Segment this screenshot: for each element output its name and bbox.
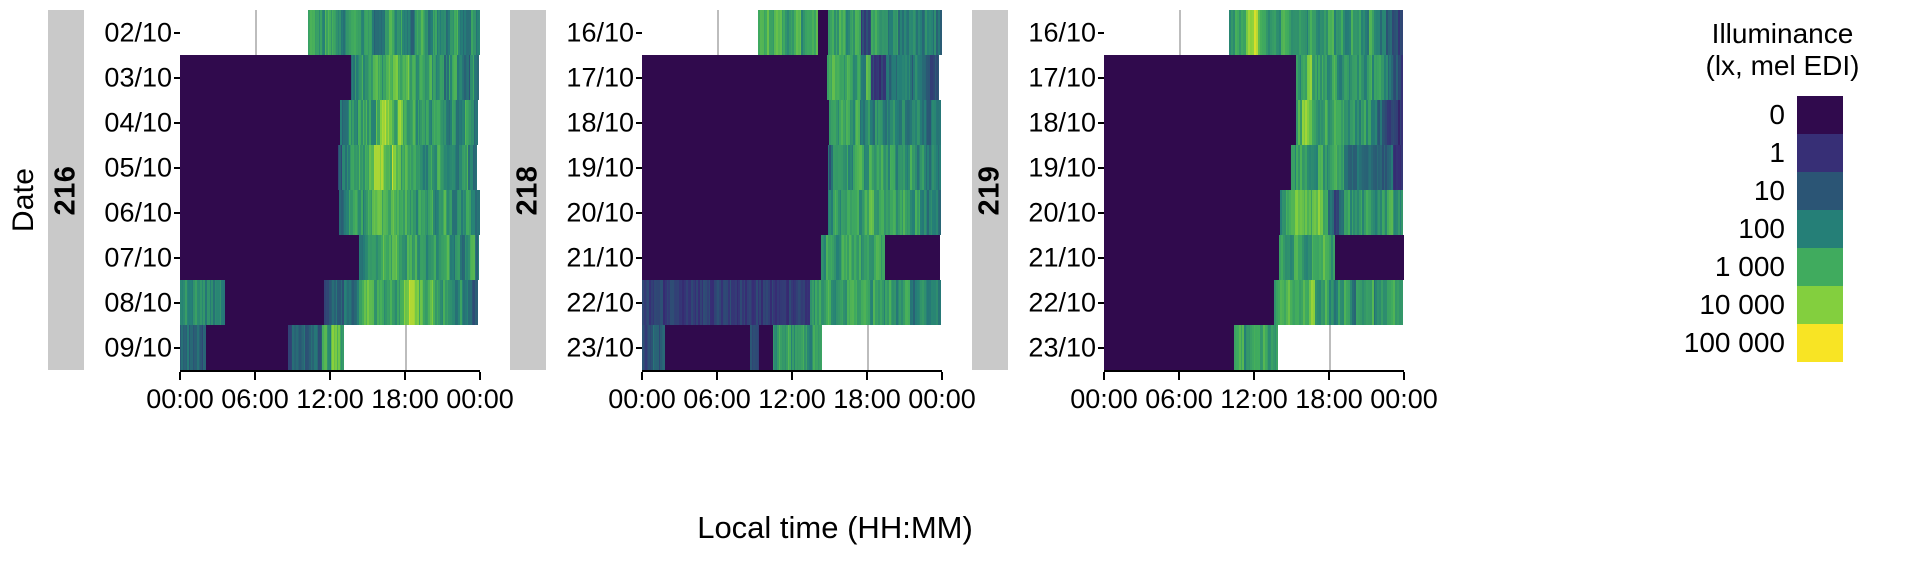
legend-swatch-2 [1797,172,1843,210]
y-tick-label: 21/10 [566,242,634,273]
y-tick-label: 22/10 [566,287,634,318]
legend-swatch-1 [1797,134,1843,172]
heatmap-cell [476,145,478,190]
y-tick-label: 23/10 [1028,332,1096,363]
heatmap-cell [477,100,478,145]
heatmap-row [1104,325,1279,370]
heatmap-cell [939,145,941,190]
x-tick-mark [866,372,868,380]
heatmap-row [642,325,823,370]
x-tick-label: 12:00 [1220,384,1288,415]
y-tick-label: 19/10 [1028,152,1096,183]
heatmap-row [642,55,942,100]
heatmap-cell [1276,325,1278,370]
x-tick-mark [479,372,481,380]
heatmap-row [180,145,480,190]
heatmap-row [180,190,480,235]
illuminance-heatmap-figure: Date 21602/1003/1004/1005/1006/1007/1008… [0,0,1920,576]
legend-swatch-5 [1797,286,1843,324]
legend-title-line1: Illuminance [1655,18,1910,50]
y-tick-label: 20/10 [1028,197,1096,228]
heatmap-cell [938,55,940,100]
heatmap-row [180,100,480,145]
y-tick-label: 17/10 [1028,62,1096,93]
x-tick-label: 12:00 [296,384,364,415]
heatmap-cell [1401,190,1403,235]
legend-colorbar [1797,96,1843,362]
facet-strip-219: 219 [972,10,1008,370]
legend-key-2: 10 [1655,172,1785,210]
heatmap-row [1104,100,1404,145]
y-tick-labels-216: 02/1003/1004/1005/1006/1007/1008/1009/10 [84,10,180,370]
y-tick-label: 23/10 [566,332,634,363]
heatmap-row [642,145,942,190]
y-tick-labels-219: 16/1017/1018/1019/1020/1021/1022/1023/10 [1008,10,1104,370]
facet-strip-label: 219 [974,165,1007,215]
heatmap-cell [940,10,942,55]
heatmap-cell [821,325,823,370]
legend-swatch-3 [1797,210,1843,248]
legend-key-3: 100 [1655,210,1785,248]
legend-title-line2: (lx, mel EDI) [1655,50,1910,82]
facet-strip-218: 218 [510,10,546,370]
x-tick-mark [1103,372,1105,380]
x-tick-mark [1403,372,1405,380]
facet-strip-216: 216 [48,10,84,370]
heatmap-cell [478,235,480,280]
heatmap-row [642,280,942,325]
heatmap-row [308,10,481,55]
x-tick-mark [254,372,256,380]
heatmap-row [180,55,480,100]
x-tick-label: 12:00 [758,384,826,415]
heatmap-row [758,10,942,55]
y-tick-label: 09/10 [104,332,172,363]
y-tick-label: 05/10 [104,152,172,183]
heatmap-row [180,235,480,280]
y-tick-labels-218: 16/1017/1018/1019/1020/1021/1022/1023/10 [546,10,642,370]
x-tick-mark [404,372,406,380]
heatmap-cell [478,190,480,235]
facet-strip-label: 218 [512,165,545,215]
y-tick-label: 17/10 [566,62,634,93]
x-tick-mark [1328,372,1330,380]
legend-swatch-0 [1797,96,1843,134]
heatmap-row [642,100,942,145]
y-tick-label: 22/10 [1028,287,1096,318]
x-tick-mark [329,372,331,380]
x-tick-mark [641,372,643,380]
y-tick-label: 04/10 [104,107,172,138]
legend: Illuminance (lx, mel EDI) 01101001 00010… [1655,18,1910,366]
y-tick-label: 20/10 [566,197,634,228]
heatmap-cell [1401,145,1403,190]
heatmap-cell [939,100,941,145]
heatmap-cell [939,190,941,235]
legend-key-4: 1 000 [1655,248,1785,286]
heatmap-plot-218 [642,10,942,370]
x-tick-label: 06:00 [683,384,751,415]
heatmap-row [1104,145,1404,190]
y-axis-title: Date [4,120,44,280]
x-tick-label: 00:00 [1070,384,1138,415]
y-tick-label: 16/10 [1028,17,1096,48]
x-tick-label: 18:00 [371,384,439,415]
y-tick-label: 19/10 [566,152,634,183]
y-tick-label: 06/10 [104,197,172,228]
x-tick-label: 18:00 [1295,384,1363,415]
heatmap-cell [1401,10,1403,55]
heatmap-row [1104,190,1404,235]
heatmap-row [1229,10,1404,55]
legend-title: Illuminance (lx, mel EDI) [1655,18,1910,82]
legend-key-6: 100 000 [1655,324,1785,362]
heatmap-cell [342,325,343,370]
heatmap-cell [476,280,478,325]
x-axis-title-label: Local time (HH:MM) [697,510,973,546]
x-tick-mark [941,372,943,380]
legend-key-1: 1 [1655,134,1785,172]
legend-key-5: 10 000 [1655,286,1785,324]
x-tick-label: 00:00 [608,384,676,415]
legend-swatch-4 [1797,248,1843,286]
x-tick-label: 06:00 [221,384,289,415]
heatmap-cell [1401,280,1403,325]
x-tick-label: 00:00 [446,384,514,415]
heatmap-row [1104,280,1404,325]
y-axis-title-label: Date [7,168,41,232]
y-tick-label: 02/10 [104,17,172,48]
heatmap-row [642,235,942,280]
heatmap-plot-216 [180,10,480,370]
legend-key-0: 0 [1655,96,1785,134]
y-tick-label: 21/10 [1028,242,1096,273]
heatmap-cell [477,55,478,100]
heatmap-cell [479,10,480,55]
heatmap-cell [940,280,942,325]
y-tick-label: 16/10 [566,17,634,48]
legend-body: 01101001 00010 000100 000 [1655,96,1910,366]
heatmap-row [180,325,345,370]
heatmap-row [1104,235,1404,280]
y-tick-label: 18/10 [1028,107,1096,138]
heatmap-plot-219 [1104,10,1404,370]
heatmap-row [642,190,942,235]
x-tick-mark [1253,372,1255,380]
x-axis-title: Local time (HH:MM) [0,510,1920,546]
x-tick-mark [791,372,793,380]
y-tick-label: 08/10 [104,287,172,318]
x-tick-label: 00:00 [908,384,976,415]
heatmap-cell [1401,100,1403,145]
x-tick-label: 00:00 [146,384,214,415]
facet-strip-label: 216 [50,165,83,215]
legend-swatch-6 [1797,324,1843,362]
legend-key-labels: 01101001 00010 000100 000 [1655,96,1785,362]
x-tick-mark [716,372,718,380]
heatmap-row [180,280,480,325]
x-tick-mark [179,372,181,380]
heatmap-row [1104,55,1404,100]
x-tick-label: 06:00 [1145,384,1213,415]
y-tick-label: 07/10 [104,242,172,273]
heatmap-cell [1402,235,1404,280]
x-tick-label: 00:00 [1370,384,1438,415]
heatmap-cell [938,235,940,280]
x-tick-mark [1178,372,1180,380]
y-tick-label: 03/10 [104,62,172,93]
y-tick-label: 18/10 [566,107,634,138]
x-tick-label: 18:00 [833,384,901,415]
heatmap-cell [1401,55,1403,100]
